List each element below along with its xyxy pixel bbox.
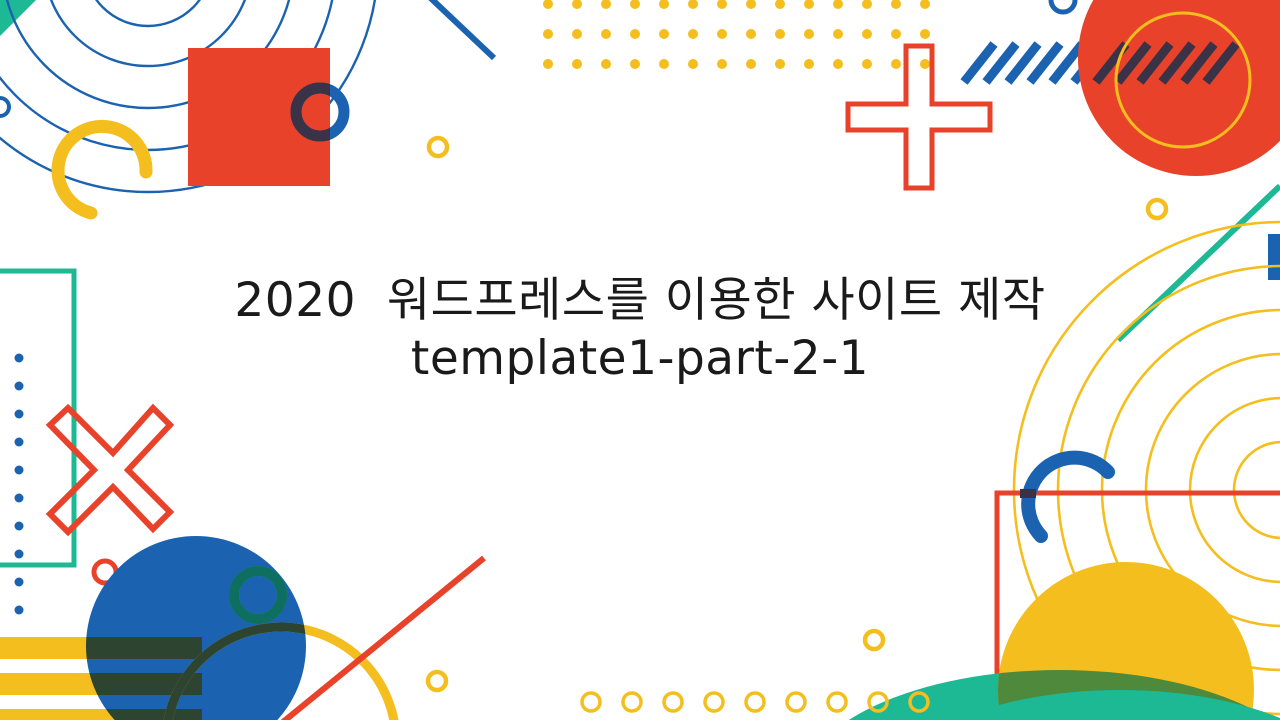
diagonal-line-blue-top	[420, 0, 494, 58]
square-red-top-left	[188, 48, 330, 186]
ring-small-blue-left-edge	[0, 98, 9, 116]
cross-x-red-left	[50, 408, 170, 532]
diagonal-line-teal-right	[1118, 186, 1280, 340]
dot-grid-yellow-top	[543, 0, 930, 69]
ring-small-yellow-right	[1148, 200, 1166, 218]
ring-small-blue-top-right	[1051, 0, 1075, 12]
rect-blue-right-edge	[1268, 234, 1280, 280]
arc-blue-bottom-right	[1028, 458, 1108, 536]
ring-small-yellow-top	[429, 138, 447, 156]
ring-small-yellow-bottom-center	[428, 672, 446, 690]
slide-canvas: 2020 워드프레스를 이용한 사이트 제작 template1-part-2-…	[0, 0, 1280, 720]
arc-blue-overlap-marker	[1020, 489, 1036, 498]
decorative-background	[0, 0, 1280, 720]
arc-yellow-top-left	[58, 126, 146, 213]
dot-column-blue-left	[15, 354, 24, 615]
ring-small-yellow-bottom-right2	[865, 631, 883, 649]
rect-outline-teal-left	[0, 271, 74, 565]
